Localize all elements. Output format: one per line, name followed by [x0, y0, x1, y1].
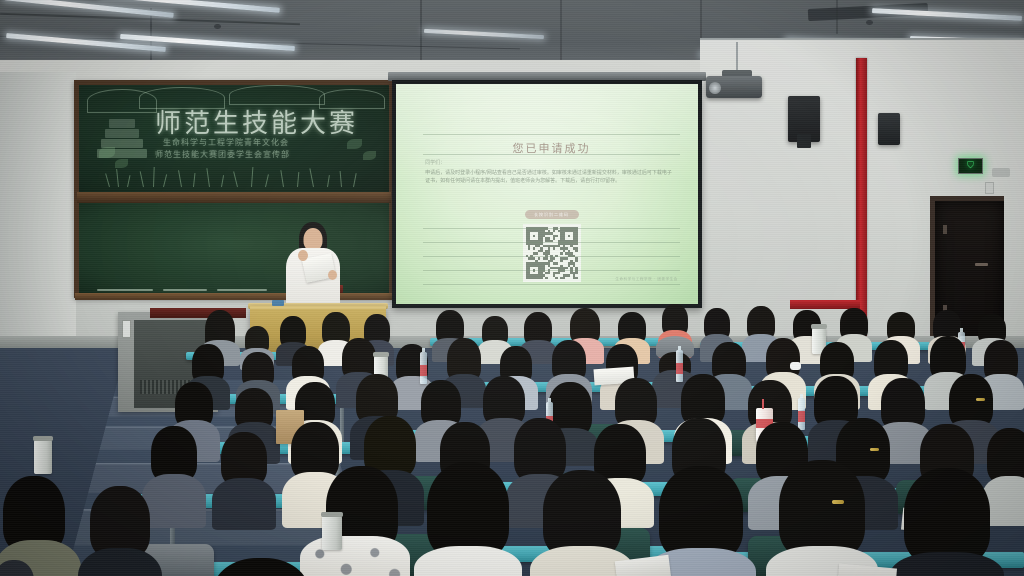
slide-rule: [423, 256, 680, 257]
wall-speaker-left: [788, 96, 820, 142]
slide-rule: [423, 134, 680, 135]
slide-action-button[interactable]: 长按识别二维码: [525, 210, 579, 219]
thermos-cap: [811, 324, 827, 329]
projector-mount-rod: [736, 42, 738, 72]
ceiling-panel-line: [420, 0, 422, 66]
chalk-leaf-decoration: [347, 139, 362, 149]
torso: [890, 552, 1004, 576]
audience-member: [890, 468, 1004, 576]
chalk-leaf-decoration: [363, 151, 376, 160]
hair: [0, 560, 34, 576]
hair: [904, 468, 990, 564]
blackboard-divider: [77, 192, 391, 203]
hair: [659, 466, 743, 560]
ceiling-projector: [706, 76, 762, 98]
audience-member: [766, 460, 878, 576]
door-hinge: [943, 225, 947, 234]
slide-rule: [423, 242, 680, 243]
projection-screen-surface: 您已申请成功 同学们： 申请后，请及时登录小程序/网站查看自己是否通过审核。如审…: [396, 84, 698, 304]
exit-sign: ⛉: [958, 158, 983, 174]
torso: [78, 548, 162, 576]
blackboard-subtitle-2: 师范生技能大赛团委学生会宣传部: [155, 149, 290, 160]
slide-salutation: 同学们：: [425, 159, 445, 166]
slide-rule: [423, 154, 680, 155]
thermos-cap: [321, 512, 343, 517]
chalk-grass-decoration: [109, 165, 359, 187]
hair: [779, 460, 865, 558]
bottle-label: [676, 363, 683, 374]
hair-clip: [870, 448, 879, 451]
projection-screen: 您已申请成功 同学们： 申请后，请及时登录小程序/网站查看自己是否通过审核。如审…: [392, 80, 702, 308]
audience-area: [0, 290, 1024, 576]
slide-rule: [423, 284, 680, 285]
hair: [213, 558, 309, 576]
hair-clip: [976, 398, 985, 401]
hair: [427, 462, 509, 558]
ceiling-panel-line: [560, 0, 562, 60]
torso: [212, 478, 276, 530]
hair-clip: [832, 500, 844, 504]
audience-member: [414, 462, 522, 576]
thermos-cap: [33, 436, 53, 441]
chalk-decoration: [229, 85, 325, 105]
wall-switch-plate[interactable]: [985, 182, 994, 194]
thermos-cup: [322, 516, 342, 550]
slide-footer-note: 生命科学与工程学院 · 团委学生会: [615, 277, 678, 282]
presenter-hand: [298, 250, 308, 261]
exit-sign-icon: ⛉: [967, 161, 974, 171]
audience-member: [78, 486, 162, 576]
presentation-slide: 您已申请成功 同学们： 申请后，请及时登录小程序/网站查看自己是否通过审核。如审…: [423, 132, 680, 286]
thermos-cap: [373, 352, 389, 357]
wall-speaker-right: [878, 113, 900, 145]
qr-code-grid: [526, 227, 578, 279]
lecture-hall-scene: 师范生技能大赛 生命科学与工程学院青年文化会 师范生技能大赛团委学生会宣传部: [0, 0, 1024, 576]
wall-light-fixture: [992, 168, 1010, 177]
smoke-detector-icon: [214, 24, 221, 29]
bottle-label: [420, 365, 427, 376]
face-mask: [790, 362, 801, 370]
thermos-cup: [34, 440, 52, 474]
audience-member: [0, 560, 70, 576]
door-handle[interactable]: [975, 263, 988, 266]
torso: [414, 546, 522, 576]
blackboard-upper-panel: 师范生技能大赛 生命科学与工程学院青年文化会 师范生技能大赛团委学生会宣传部: [79, 85, 389, 193]
bottle-label: [798, 411, 805, 422]
slide-rule: [423, 228, 680, 229]
audience-member: [212, 432, 276, 524]
drink-straw: [762, 399, 764, 409]
blackboard-title: 师范生技能大赛: [155, 103, 358, 140]
slide-body-text: 申请后，请及时登录小程序/网站查看自己是否通过审核。如审核未通过请重新提交材料，…: [425, 169, 672, 185]
hair: [543, 470, 621, 558]
blackboard-subtitle-1: 生命科学与工程学院青年文化会: [163, 137, 289, 148]
smoke-detector-icon: [866, 20, 873, 25]
qr-code[interactable]: [523, 224, 581, 282]
chalk-leaf-decoration: [99, 147, 115, 158]
presenter-hand: [328, 270, 337, 280]
slide-rule: [423, 270, 680, 271]
audience-member: [196, 558, 326, 576]
